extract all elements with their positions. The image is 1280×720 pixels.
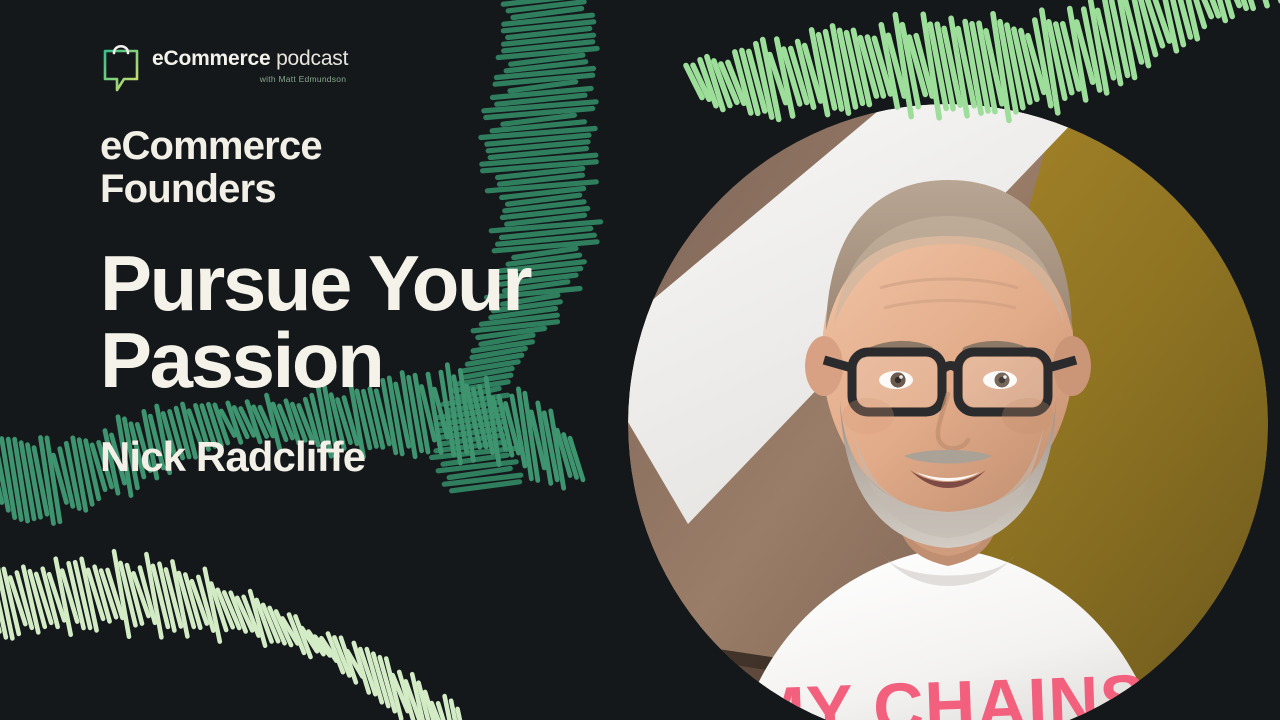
waveform-bottom-left xyxy=(0,545,650,720)
logo-title: eCommerce podcast xyxy=(152,48,348,70)
logo-title-light: podcast xyxy=(276,47,348,70)
episode-copy: eCommerce Founders Pursue Your Passion N… xyxy=(100,125,660,480)
podcast-episode-thumbnail: MY CHAINS eCommerce podcast with Matt Ed… xyxy=(0,0,1280,720)
podcast-logo: eCommerce podcast with Matt Edmundson xyxy=(100,38,348,94)
guest-portrait: MY CHAINS xyxy=(628,104,1268,720)
episode-title: Pursue Your Passion xyxy=(100,245,660,398)
shopping-bag-speech-bubble-icon xyxy=(100,38,142,94)
series-eyebrow: eCommerce Founders xyxy=(100,125,660,211)
guest-name: Nick Radcliffe xyxy=(100,434,660,480)
logo-subtitle: with Matt Edmundson xyxy=(152,74,348,84)
logo-title-bold: eCommerce xyxy=(152,47,270,70)
